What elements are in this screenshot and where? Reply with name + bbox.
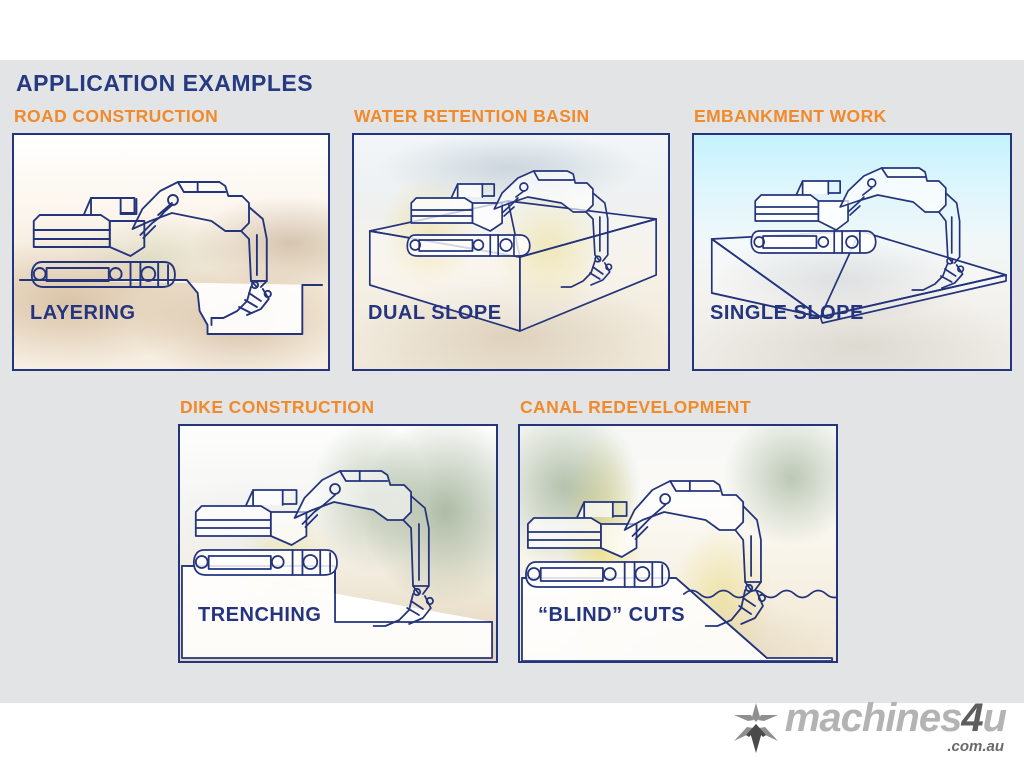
- card-embankment-work[interactable]: EMBANKMENT WORK: [692, 106, 1012, 371]
- card-canal-redevelopment[interactable]: CANAL REDEVELOPMENT: [518, 397, 838, 663]
- asterisk-star-icon: [733, 702, 779, 754]
- page-title: APPLICATION EXAMPLES: [16, 70, 313, 97]
- card-heading-embankment-work: EMBANKMENT WORK: [694, 106, 1012, 127]
- card-frame-dike-construction: TRENCHING: [178, 424, 498, 663]
- watermark: machines4u .com.au: [733, 698, 1006, 754]
- card-water-retention-basin[interactable]: WATER RETENTION BASIN: [352, 106, 670, 371]
- diagram-dual-slope: [354, 135, 668, 369]
- cards-row-bottom: DIKE CONSTRUCTION: [0, 397, 1024, 697]
- card-heading-dike-construction: DIKE CONSTRUCTION: [180, 397, 498, 418]
- diagram-single-slope: [694, 135, 1010, 369]
- watermark-name-accent: 4: [961, 696, 982, 740]
- cards-row-top: ROAD CONSTRUCTION: [0, 106, 1024, 446]
- card-caption-dike-construction: TRENCHING: [198, 604, 321, 627]
- card-caption-water-retention-basin: DUAL SLOPE: [368, 302, 502, 325]
- card-frame-canal-redevelopment: “BLIND” CUTS: [518, 424, 838, 663]
- card-caption-road-construction: LAYERING: [30, 302, 136, 325]
- watermark-name-tail: u: [983, 696, 1006, 740]
- watermark-wordmark: machines4u: [785, 698, 1006, 738]
- card-road-construction[interactable]: ROAD CONSTRUCTION: [12, 106, 330, 371]
- card-frame-road-construction: LAYERING: [12, 133, 330, 371]
- card-frame-water-retention-basin: DUAL SLOPE: [352, 133, 670, 371]
- watermark-name-light: machines: [785, 696, 962, 740]
- card-frame-embankment-work: SINGLE SLOPE: [692, 133, 1012, 371]
- card-caption-canal-redevelopment: “BLIND” CUTS: [538, 604, 685, 627]
- card-heading-water-retention-basin: WATER RETENTION BASIN: [354, 106, 670, 127]
- watermark-domain: .com.au: [947, 739, 1004, 754]
- watermark-text: machines4u .com.au: [785, 698, 1006, 754]
- card-caption-embankment-work: SINGLE SLOPE: [710, 302, 864, 325]
- diagram-layering: [14, 135, 328, 369]
- card-heading-road-construction: ROAD CONSTRUCTION: [14, 106, 330, 127]
- card-heading-canal-redevelopment: CANAL REDEVELOPMENT: [520, 397, 838, 418]
- card-dike-construction[interactable]: DIKE CONSTRUCTION: [178, 397, 498, 663]
- slide-canvas: APPLICATION EXAMPLES ROAD CONSTRUCTION: [0, 60, 1024, 703]
